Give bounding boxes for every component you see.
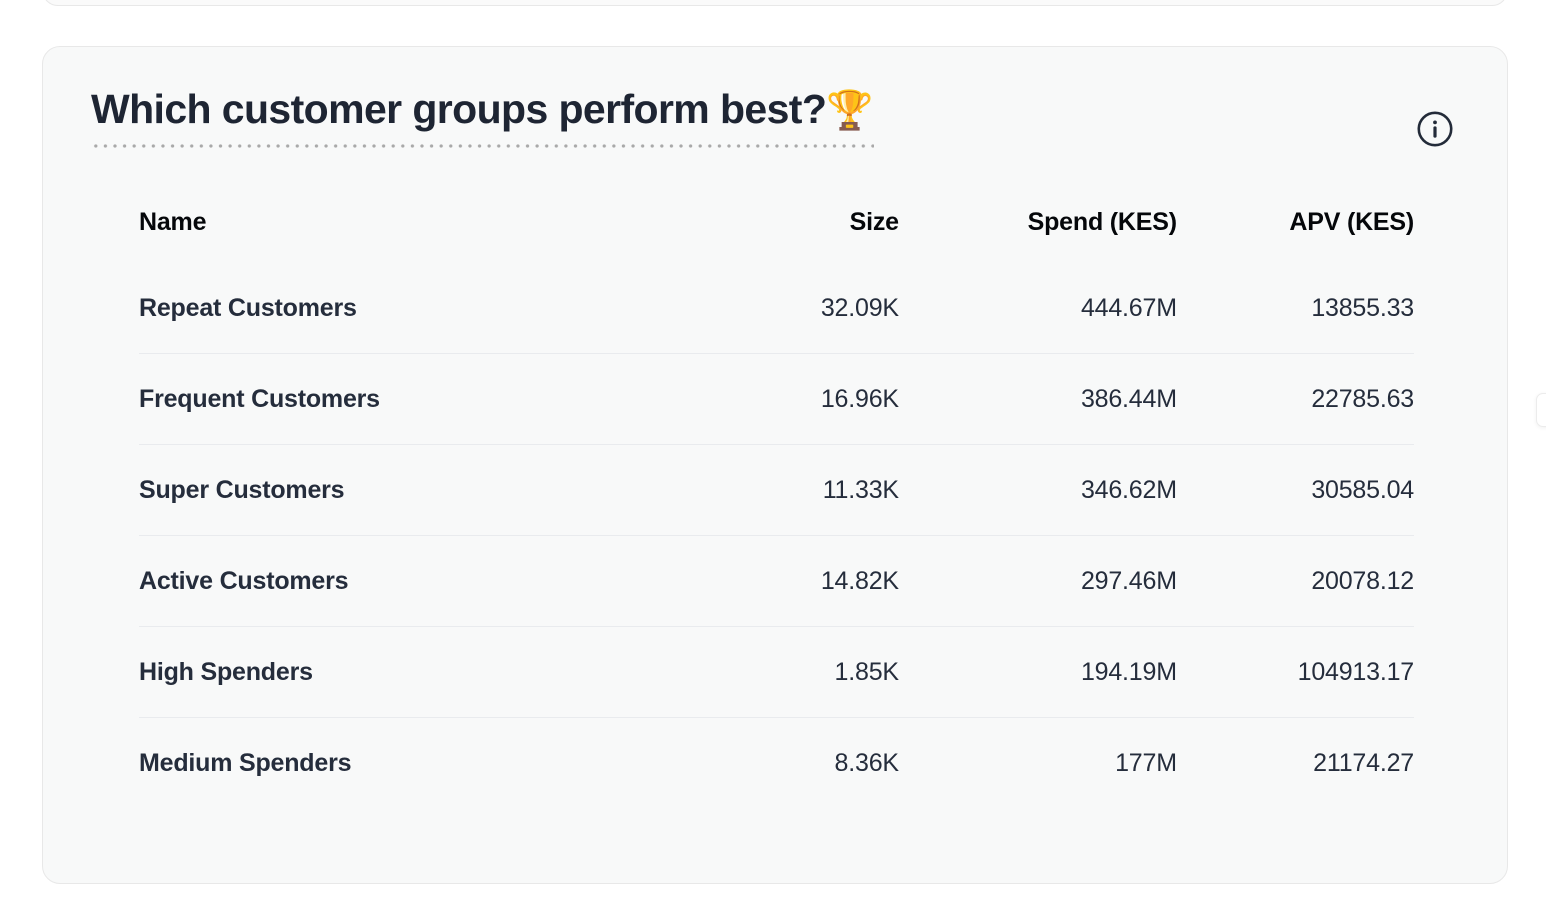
- column-header-spend[interactable]: Spend (KES): [899, 208, 1177, 263]
- customer-groups-table: Name Size Spend (KES) APV (KES) Repeat C…: [139, 208, 1414, 808]
- cell-name: Super Customers: [139, 445, 695, 536]
- table-row[interactable]: Super Customers 11.33K 346.62M 30585.04: [139, 445, 1414, 536]
- edge-floating-chip[interactable]: [1536, 393, 1546, 427]
- cell-name: Repeat Customers: [139, 263, 695, 354]
- cell-size: 8.36K: [695, 718, 899, 809]
- cell-size: 14.82K: [695, 536, 899, 627]
- cell-spend: 444.67M: [899, 263, 1177, 354]
- table-row[interactable]: Medium Spenders 8.36K 177M 21174.27: [139, 718, 1414, 809]
- customer-groups-card: Which customer groups perform best?🏆 Nam…: [42, 46, 1508, 884]
- table-header-row: Name Size Spend (KES) APV (KES): [139, 208, 1414, 263]
- table-header: Name Size Spend (KES) APV (KES): [139, 208, 1414, 263]
- cell-spend: 194.19M: [899, 627, 1177, 718]
- table-body: Repeat Customers 32.09K 444.67M 13855.33…: [139, 263, 1414, 808]
- cell-size: 1.85K: [695, 627, 899, 718]
- table-row[interactable]: Frequent Customers 16.96K 386.44M 22785.…: [139, 354, 1414, 445]
- cell-name: Medium Spenders: [139, 718, 695, 809]
- previous-card-bottom-edge: [42, 0, 1508, 6]
- cell-spend: 386.44M: [899, 354, 1177, 445]
- cell-name: Frequent Customers: [139, 354, 695, 445]
- table-row[interactable]: Repeat Customers 32.09K 444.67M 13855.33: [139, 263, 1414, 354]
- cell-apv: 30585.04: [1177, 445, 1414, 536]
- cell-spend: 346.62M: [899, 445, 1177, 536]
- cell-size: 11.33K: [695, 445, 899, 536]
- title-dotted-underline: [91, 144, 874, 148]
- cell-apv: 21174.27: [1177, 718, 1414, 809]
- cell-apv: 20078.12: [1177, 536, 1414, 627]
- cell-spend: 297.46M: [899, 536, 1177, 627]
- page-title: Which customer groups perform best?🏆: [91, 85, 874, 140]
- trophy-icon: 🏆: [826, 90, 873, 132]
- column-header-size[interactable]: Size: [695, 208, 899, 263]
- cell-size: 32.09K: [695, 263, 899, 354]
- cell-name: High Spenders: [139, 627, 695, 718]
- cell-name: Active Customers: [139, 536, 695, 627]
- title-wrapper: Which customer groups perform best?🏆: [91, 85, 874, 148]
- performance-table-wrapper: Name Size Spend (KES) APV (KES) Repeat C…: [139, 208, 1414, 808]
- table-row[interactable]: Active Customers 14.82K 297.46M 20078.12: [139, 536, 1414, 627]
- cell-size: 16.96K: [695, 354, 899, 445]
- cell-apv: 22785.63: [1177, 354, 1414, 445]
- cell-apv: 104913.17: [1177, 627, 1414, 718]
- page-title-text: Which customer groups perform best?: [91, 86, 826, 132]
- column-header-apv[interactable]: APV (KES): [1177, 208, 1414, 263]
- cell-apv: 13855.33: [1177, 263, 1414, 354]
- info-icon[interactable]: [1415, 109, 1455, 149]
- card-header: Which customer groups perform best?🏆: [43, 47, 1507, 177]
- column-header-name[interactable]: Name: [139, 208, 695, 263]
- table-row[interactable]: High Spenders 1.85K 194.19M 104913.17: [139, 627, 1414, 718]
- cell-spend: 177M: [899, 718, 1177, 809]
